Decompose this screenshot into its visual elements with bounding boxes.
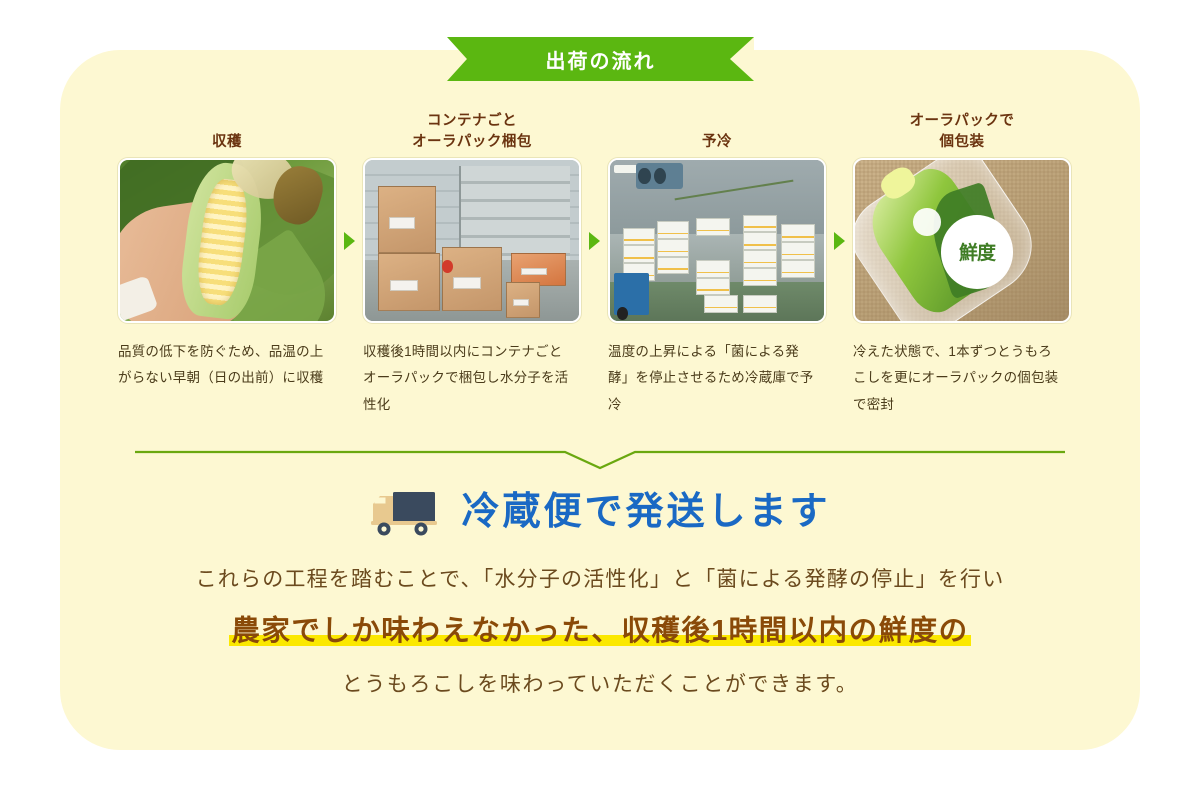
closing-highlight-wrap: 農家でしか味わえなかった、収穫後1時間以内の鮮度の xyxy=(0,611,1200,652)
step-3-title: 予冷 xyxy=(608,110,826,158)
step-2-description: 収穫後1時間以内にコンテナごとオーラパックで梱包し水分子を活性化 xyxy=(363,339,573,418)
delivery-truck-icon xyxy=(369,487,443,537)
step-2-title-line-2: オーラパック梱包 xyxy=(363,132,581,154)
process-step-1: 収穫 品質の低下を防ぐため、品温の上がらない早朝（日の出前）に収穫 xyxy=(118,110,336,392)
step-arrow-1 xyxy=(336,158,363,323)
step-3-description: 温度の上昇による「菌による発酵」を停止させるため冷蔵庫で予冷 xyxy=(608,339,818,418)
process-step-4: オーラパックで 個包装 鮮度 冷えた状態で、1本ずつとうもろこしを更にオーラパッ… xyxy=(853,110,1071,418)
step-arrow-3 xyxy=(826,158,853,323)
shipping-headline: 冷蔵便で発送します xyxy=(0,487,1200,537)
closing-line-3: とうもろこしを味わっていただくことができます。 xyxy=(0,668,1200,698)
closing-copy: これらの工程を踏むことで、「水分子の活性化」と「菌による発酵の停止」を行い 農家… xyxy=(0,563,1200,698)
cold-storage-boxes-photo xyxy=(608,158,826,323)
step-3-title-line-1: 予冷 xyxy=(608,132,826,154)
individually-wrapped-corn-photo: 鮮度 xyxy=(853,158,1071,323)
step-arrow-2 xyxy=(581,158,608,323)
step-1-title-line-1: 収穫 xyxy=(118,132,336,154)
step-1-description: 品質の低下を防ぐため、品温の上がらない早朝（日の出前）に収穫 xyxy=(118,339,328,392)
step-1-title: 収穫 xyxy=(118,110,336,158)
section-divider xyxy=(135,446,1065,470)
shipping-title: 冷蔵便で発送します xyxy=(461,493,830,531)
hand-holding-corn-photo xyxy=(118,158,336,323)
step-4-title: オーラパックで 個包装 xyxy=(853,110,1071,158)
step-2-title: コンテナごと オーラパック梱包 xyxy=(363,110,581,158)
warehouse-pallets-photo xyxy=(363,158,581,323)
step-2-title-line-1: コンテナごと xyxy=(363,111,581,133)
closing-highlight: 農家でしか味わえなかった、収穫後1時間以内の鮮度の xyxy=(229,615,970,647)
step-4-title-line-2: 個包装 xyxy=(853,132,1071,154)
process-step-2: コンテナごと オーラパック梱包 収穫後1時間以内にコンテナごとオーラパックで梱包… xyxy=(363,110,581,418)
divider-line-icon xyxy=(135,446,1065,470)
process-steps: 収穫 品質の低下を防ぐため、品温の上がらない早朝（日の出前）に収穫 コンテナごと… xyxy=(118,110,1086,418)
freshness-label: 鮮度 xyxy=(941,215,1014,289)
process-step-3: 予冷 xyxy=(608,110,826,418)
step-4-description: 冷えた状態で、1本ずつとうもろこしを更にオーラパックの個包装で密封 xyxy=(853,339,1063,418)
section-banner: 出荷の流れ xyxy=(447,37,754,81)
closing-line-1: これらの工程を踏むことで、「水分子の活性化」と「菌による発酵の停止」を行い xyxy=(0,563,1200,597)
banner-label: 出荷の流れ xyxy=(546,45,656,74)
infographic-root: 出荷の流れ 収穫 品質の低下を防ぐため、品温の上がらない早朝（日の出前）に収穫 xyxy=(0,0,1200,786)
step-4-title-line-1: オーラパックで xyxy=(853,111,1071,133)
